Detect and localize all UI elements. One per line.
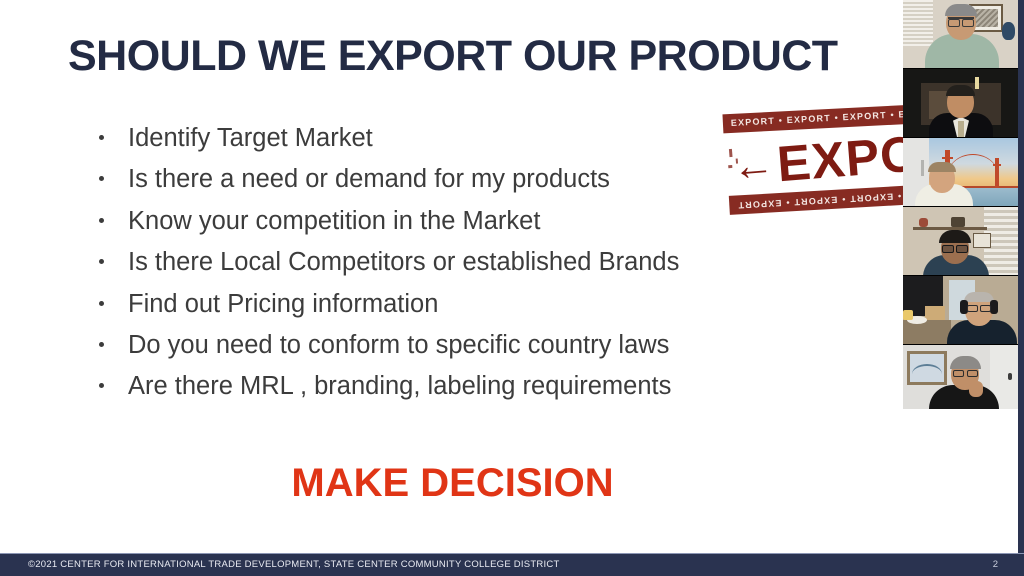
person-hair xyxy=(928,162,956,172)
slide-canvas: SHOULD WE EXPORT OUR PRODUCT Identify Ta… xyxy=(0,0,1024,576)
participant-2-video-frame xyxy=(903,69,1018,137)
bullet-item: Are there MRL , branding, labeling requi… xyxy=(96,370,796,403)
bullet-dot-icon xyxy=(99,218,104,223)
person-hand xyxy=(969,381,983,397)
participant-1-video-frame xyxy=(903,0,1018,68)
person-hair xyxy=(939,230,971,243)
shelf-object xyxy=(951,217,965,227)
bullet-item: Is there Local Competitors or establishe… xyxy=(96,246,796,279)
bullet-text: Are there MRL , branding, labeling requi… xyxy=(128,372,671,400)
slide-bullet-list: Identify Target Market Is there a need o… xyxy=(96,122,796,412)
bullet-text: Is there Local Competitors or establishe… xyxy=(128,248,679,276)
slide-title: SHOULD WE EXPORT OUR PRODUCT xyxy=(68,33,1024,79)
make-decision-callout: MAKE DECISION xyxy=(0,461,905,506)
vase xyxy=(1002,22,1015,40)
video-strip-empty-area xyxy=(903,409,1018,553)
wall-artwork-frame xyxy=(907,351,947,385)
window-blinds xyxy=(903,0,933,46)
bullet-text: Is there a need or demand for my product… xyxy=(128,165,610,193)
video-tile-participant-1[interactable] xyxy=(903,0,1018,69)
bullet-dot-icon xyxy=(99,342,104,347)
candle xyxy=(975,77,979,89)
bullet-dot-icon xyxy=(99,135,104,140)
bullet-text: Identify Target Market xyxy=(128,124,373,152)
bullet-text: Do you need to conform to specific count… xyxy=(128,331,669,359)
cardboard-box xyxy=(925,306,945,320)
bullet-dot-icon xyxy=(99,259,104,264)
person-hair xyxy=(946,85,975,96)
bullet-text: Find out Pricing information xyxy=(128,290,438,318)
participant-5-video-frame xyxy=(903,276,1018,344)
glasses-icon xyxy=(942,245,968,251)
bullet-item: Is there a need or demand for my product… xyxy=(96,163,796,196)
bullet-dot-icon xyxy=(99,301,104,306)
slide-footer-bar: ©2021 CENTER FOR INTERNATIONAL TRADE DEV… xyxy=(0,553,1024,576)
stamp-word: EXPO xyxy=(775,125,922,192)
slide-page-number: 2 xyxy=(993,559,998,570)
video-tile-participant-2[interactable] xyxy=(903,69,1018,138)
bullet-item: Identify Target Market xyxy=(96,122,796,155)
bullet-item: Do you need to conform to specific count… xyxy=(96,329,796,362)
video-participant-strip[interactable] xyxy=(903,0,1018,409)
wall-picture-frame xyxy=(973,233,991,248)
video-tile-participant-5[interactable] xyxy=(903,276,1018,345)
video-tile-participant-4[interactable] xyxy=(903,207,1018,276)
video-tile-participant-3[interactable] xyxy=(903,138,1018,207)
bridge-tower-right xyxy=(995,158,999,188)
footer-copyright: ©2021 CENTER FOR INTERNATIONAL TRADE DEV… xyxy=(28,559,560,570)
shelf-pot xyxy=(919,218,928,227)
bullet-item: Know your competition in the Market xyxy=(96,205,796,238)
glasses-icon xyxy=(948,17,974,25)
desk-surface xyxy=(903,320,951,344)
bullet-dot-icon xyxy=(99,383,104,388)
participant-3-video-frame xyxy=(903,138,1018,206)
necktie xyxy=(958,121,964,137)
glasses-icon xyxy=(953,370,978,375)
right-edge-border xyxy=(1018,0,1024,553)
bullet-text: Know your competition in the Market xyxy=(128,207,540,235)
glasses-icon xyxy=(967,305,991,310)
participant-6-video-frame xyxy=(903,345,1018,409)
cup xyxy=(903,310,913,320)
bullet-item: Find out Pricing information xyxy=(96,288,796,321)
door-knob xyxy=(1008,373,1012,380)
participant-4-video-frame xyxy=(903,207,1018,275)
video-tile-participant-6[interactable] xyxy=(903,345,1018,409)
person-hair xyxy=(945,4,977,16)
presentation-screen-share: SHOULD WE EXPORT OUR PRODUCT Identify Ta… xyxy=(0,0,1024,576)
bullet-dot-icon xyxy=(99,176,104,181)
